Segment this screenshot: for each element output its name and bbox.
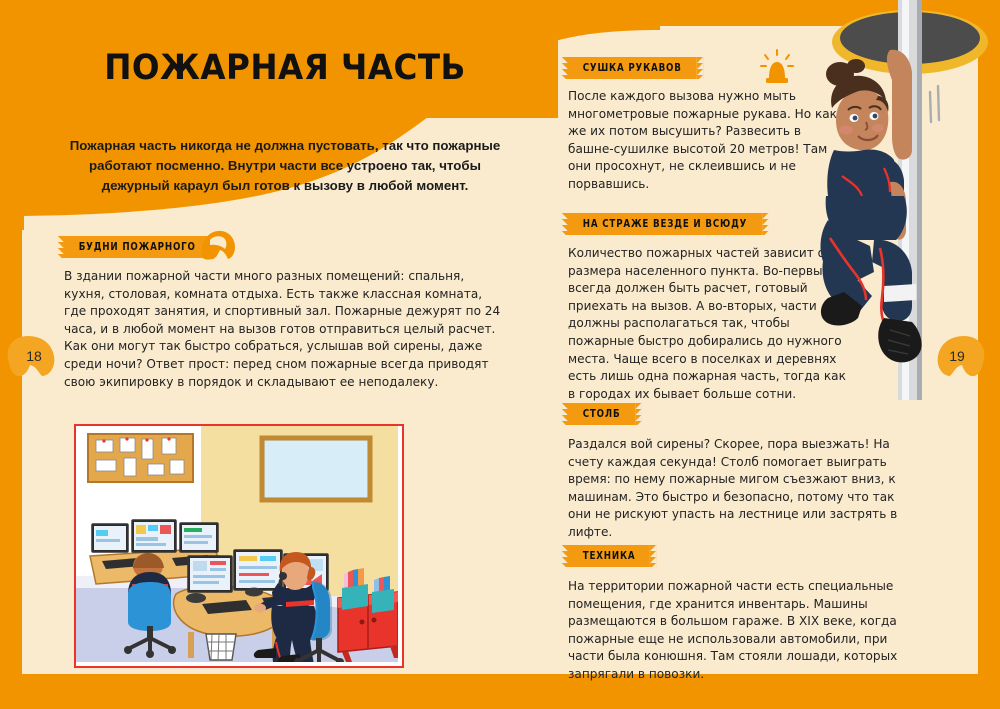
ribbon-label-na-strazhe: НА СТРАЖЕ ВЕЗДЕ И ВСЮДУ xyxy=(568,213,762,235)
body-text-tehnika: На территории пожарной части есть специа… xyxy=(568,578,916,684)
fire-helmet-icon xyxy=(196,227,238,261)
intro-paragraph: Пожарная часть никогда не должна пустова… xyxy=(64,136,506,196)
ribbon-label-tehnika: ТЕХНИКА xyxy=(568,545,650,567)
body-text-sushka-rukavov: После каждого вызова нужно мыть многомет… xyxy=(568,88,846,194)
dispatch-center-illustration xyxy=(74,424,404,668)
ribbon-label-stolb: СТОЛБ xyxy=(568,403,635,425)
section-header-stolb: СТОЛБ xyxy=(568,403,898,425)
body-text-na-strazhe: Количество пожарных частей зависит от ра… xyxy=(568,245,846,403)
siren-icon xyxy=(757,48,797,88)
page-number-right-value: 19 xyxy=(932,332,988,380)
page-title: ПОЖАРНАЯ ЧАСТЬ xyxy=(85,48,485,88)
body-text-budni-pozharnogo: В здании пожарной части много разных пом… xyxy=(64,268,508,391)
page-number-left: 18 xyxy=(4,332,60,380)
magazine-spread: ПОЖАРНАЯ ЧАСТЬ Пожарная часть никогда не… xyxy=(0,0,1000,709)
ribbon-label-budni-pozharnogo: БУДНИ ПОЖАРНОГО xyxy=(64,236,210,258)
body-text-stolb: Раздался вой сирены? Скорее, пора выезжа… xyxy=(568,436,908,542)
section-header-tehnika: ТЕХНИКА xyxy=(568,545,898,567)
ribbon-label-sushka-rukavov: СУШКА РУКАВОВ xyxy=(568,57,696,79)
page-number-right: 19 xyxy=(932,332,988,380)
page-number-left-value: 18 xyxy=(4,332,60,380)
